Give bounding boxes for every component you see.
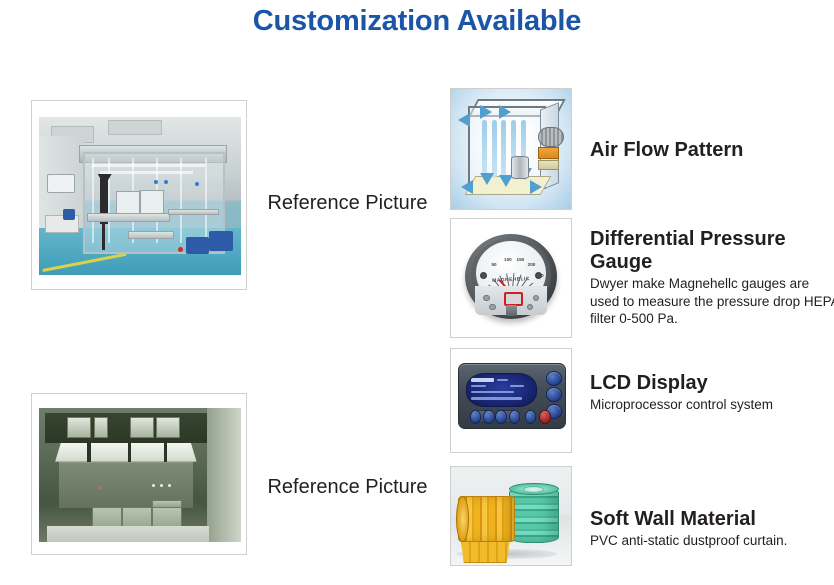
soft-wall-material-text-block: Soft Wall Material PVC anti-static dustp… bbox=[590, 508, 834, 550]
reference-picture-label-1: Reference Picture bbox=[250, 192, 445, 215]
pvc-strip-curtain-rolls-photo bbox=[451, 467, 571, 565]
magnehelic-gauge-photo: 0 50 100 150 200 250 MAGNEHELIC bbox=[451, 219, 571, 337]
air-flow-pattern-diagram bbox=[451, 89, 571, 209]
reference-picture-label-2: Reference Picture bbox=[250, 476, 445, 499]
feature-title-lcd-display: LCD Display bbox=[590, 372, 834, 395]
gauge-scale-100: 100 bbox=[504, 257, 512, 262]
page-title: Customization Available bbox=[0, 5, 834, 38]
soft-wall-material-image-frame bbox=[450, 466, 572, 566]
gauge-scale-200: 200 bbox=[528, 262, 536, 267]
differential-pressure-gauge-text-block: Differential Pressure Gauge Dwyer make M… bbox=[590, 228, 834, 328]
gauge-scale-150: 150 bbox=[517, 257, 525, 262]
green-cleanroom-interior-photo bbox=[39, 408, 241, 542]
differential-pressure-gauge-image-frame: 0 50 100 150 200 250 MAGNEHELIC bbox=[450, 218, 572, 338]
gauge-scale-50: 50 bbox=[491, 262, 496, 267]
lcd-display-text-block: LCD Display Microprocessor control syste… bbox=[590, 372, 834, 414]
feature-description-lcd-display: Microprocessor control system bbox=[590, 396, 834, 414]
reference-picture-frame-1 bbox=[31, 100, 247, 290]
reference-picture-frame-2 bbox=[31, 393, 247, 555]
air-flow-pattern-text-block: Air Flow Pattern bbox=[590, 139, 834, 162]
feature-description-differential-pressure-gauge: Dwyer make Magnehellc gauges are used to… bbox=[590, 275, 834, 328]
lcd-control-panel-photo bbox=[451, 349, 571, 452]
feature-title-soft-wall-material: Soft Wall Material bbox=[590, 508, 834, 531]
air-flow-pattern-image-frame bbox=[450, 88, 572, 210]
feature-title-differential-pressure-gauge: Differential Pressure Gauge bbox=[590, 228, 834, 274]
feature-title-air-flow-pattern: Air Flow Pattern bbox=[590, 139, 834, 162]
lcd-display-image-frame bbox=[450, 348, 572, 453]
cleanroom-dispensing-booth-photo bbox=[39, 117, 241, 275]
feature-description-soft-wall-material: PVC anti-static dustproof curtain. bbox=[590, 532, 834, 550]
